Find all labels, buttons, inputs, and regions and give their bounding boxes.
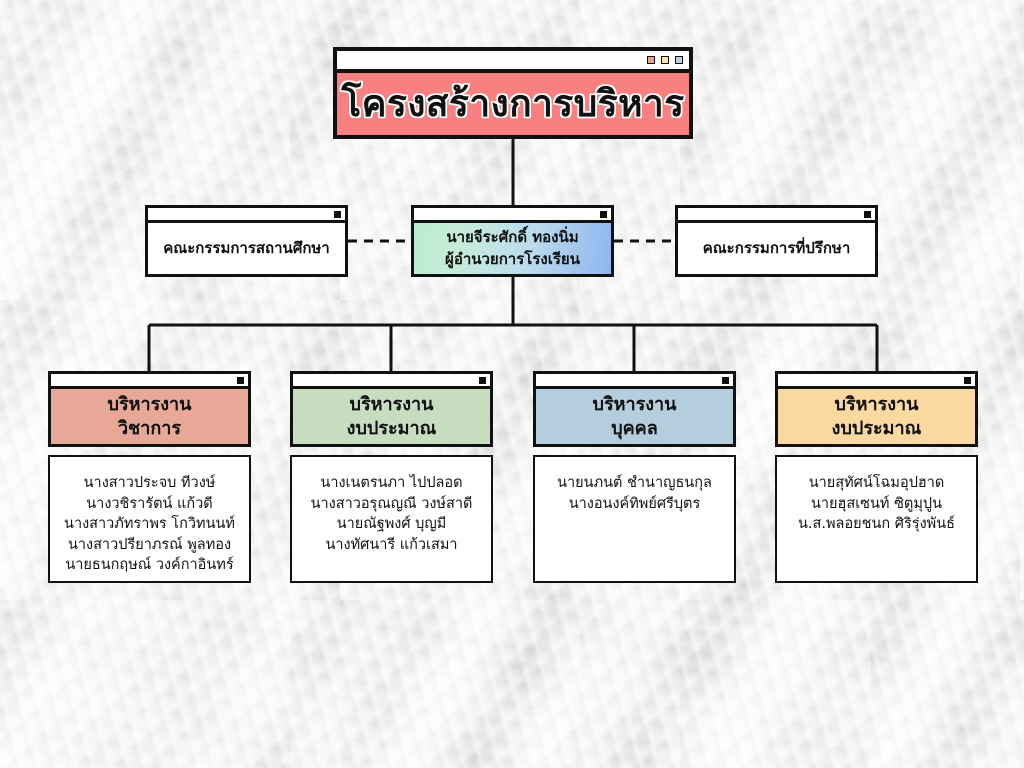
department-header-body: บริหารงาน วิชาการ (51, 389, 248, 444)
director-titlebar (414, 208, 611, 223)
staff-name: นายธนกฤษณ์ วงค์กาอินทร์ (65, 555, 233, 576)
staff-name: นางสาวปรียาภรณ์ พูลทอง (68, 535, 231, 556)
department-staff-list: นางเนตรนภา ไปปลอด นางสาวอรุณญณี วงษ์สาดี… (290, 455, 493, 583)
school-board-label: คณะกรรมการสถานศึกษา (163, 238, 329, 260)
staff-name: น.ส.พลอยชนก ศิริรุ่งพันธ์ (798, 514, 955, 535)
org-chart: โครงสร้างการบริหาร คณะกรรมการสถานศึกษา น… (0, 0, 1024, 768)
school-board-body: คณะกรรมการสถานศึกษา (148, 223, 345, 274)
window-dot-red-icon (647, 56, 655, 64)
staff-name: นางทัศนารี แก้วเสมา (325, 535, 457, 556)
advisory-committee-body: คณะกรรมการที่ปรึกษา (678, 223, 875, 274)
advisory-committee-titlebar (678, 208, 875, 223)
director-name: นายจีระศักดิ์ ทองนิ่ม (446, 227, 578, 249)
window-dot-icon (334, 211, 341, 218)
staff-name: นางสาวอรุณญณี วงษ์สาดี (311, 494, 473, 515)
department-staff-list: นางสาวประจบ ทีวงษ์ นางวชิรารัตน์ แก้วดี … (48, 455, 251, 583)
staff-name: นายสุทัศน์โฉมอุปฮาด (809, 473, 945, 494)
department-titlebar (293, 374, 490, 389)
department-title-line2: งบประมาณ (832, 417, 922, 440)
advisory-committee-box: คณะกรรมการที่ปรึกษา (675, 205, 878, 277)
department-titlebar (536, 374, 733, 389)
department-title-line1: บริหารงาน (108, 393, 192, 416)
department-header-academic: บริหารงาน วิชาการ (48, 371, 251, 447)
staff-name: นางวชิรารัตน์ แก้วดี (86, 494, 212, 515)
window-dot-icon (479, 377, 486, 384)
department-title-line1: บริหารงาน (350, 393, 434, 416)
advisory-committee-label: คณะกรรมการที่ปรึกษา (703, 238, 851, 260)
department-header-body: บริหารงาน งบประมาณ (293, 389, 490, 444)
window-dot-yellow-icon (661, 56, 669, 64)
staff-name: นางอนงค์ทิพย์ศรีบุตร (569, 494, 701, 515)
chart-title-window: โครงสร้างการบริหาร (333, 47, 693, 139)
window-dot-icon (964, 377, 971, 384)
department-header-body: บริหารงาน บุคคล (536, 389, 733, 444)
department-staff-list: นายสุทัศน์โฉมอุปฮาด นายฮุสเซนท์ ซิตูมุปู… (775, 455, 978, 583)
director-position: ผู้อำนวยการโรงเรียน (445, 249, 580, 271)
window-dot-icon (600, 211, 607, 218)
department-staff-list: นายนภนต์ ชำนาญธนกุล นางอนงค์ทิพย์ศรีบุตร (533, 455, 736, 583)
department-title-line2: บุคคล (611, 417, 658, 440)
staff-name: นายนภนต์ ชำนาญธนกุล (557, 473, 712, 494)
department-header-body: บริหารงาน งบประมาณ (778, 389, 975, 444)
director-box: นายจีระศักดิ์ ทองนิ่ม ผู้อำนวยการโรงเรีย… (411, 205, 614, 277)
staff-name: นายณัฐพงศ์ บุญมี (337, 514, 447, 535)
department-title-line2: งบประมาณ (347, 417, 437, 440)
staff-name: นางสาวภัทราพร โกวิทนนท์ (64, 514, 235, 535)
department-titlebar (51, 374, 248, 389)
window-dot-icon (864, 211, 871, 218)
staff-name: นางเนตรนภา ไปปลอด (320, 473, 462, 494)
chart-title-body: โครงสร้างการบริหาร (337, 73, 689, 135)
chart-title-text: โครงสร้างการบริหาร (341, 85, 684, 124)
department-title-line1: บริหารงาน (593, 393, 677, 416)
title-window-titlebar (337, 51, 689, 73)
staff-name: นางสาวประจบ ทีวงษ์ (84, 473, 216, 494)
director-body: นายจีระศักดิ์ ทองนิ่ม ผู้อำนวยการโรงเรีย… (414, 223, 611, 274)
department-header-general: บริหารงาน งบประมาณ (775, 371, 978, 447)
department-titlebar (778, 374, 975, 389)
window-dot-blue-icon (675, 56, 683, 64)
staff-name: นายฮุสเซนท์ ซิตูมุปูน (811, 494, 942, 515)
department-header-budget: บริหารงาน งบประมาณ (290, 371, 493, 447)
school-board-titlebar (148, 208, 345, 223)
department-title-line2: วิชาการ (118, 417, 181, 440)
department-title-line1: บริหารงาน (835, 393, 919, 416)
school-board-committee-box: คณะกรรมการสถานศึกษา (145, 205, 348, 277)
window-dot-icon (722, 377, 729, 384)
department-header-personnel: บริหารงาน บุคคล (533, 371, 736, 447)
window-dot-icon (237, 377, 244, 384)
